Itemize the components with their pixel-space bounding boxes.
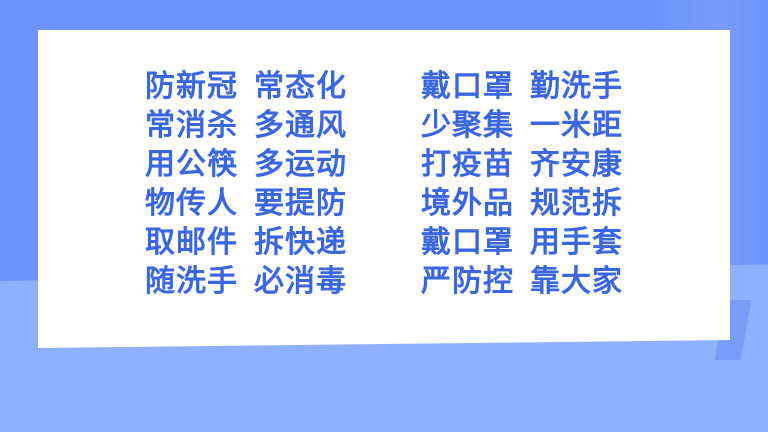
slogan-phrase: 戴口罩 [421, 223, 514, 262]
slogan-row: 物传人 要提防 [145, 184, 347, 223]
slogan-phrase: 严防控 [421, 262, 514, 301]
slogan-phrase: 取邮件 [145, 223, 238, 262]
slogan-phrase: 戴口罩 [421, 67, 514, 106]
slogan-phrase: 随洗手 [145, 262, 238, 301]
slogan-phrase: 拆快递 [254, 223, 347, 262]
slogan-column-left: 防新冠 常态化 常消杀 多通风 用公筷 多运动 物传人 要提防 [145, 67, 347, 301]
slogan-phrase: 用公筷 [145, 145, 238, 184]
slogan-row: 严防控 靠大家 [421, 262, 623, 301]
slogan-phrase: 必消毒 [254, 262, 347, 301]
slogan-phrase: 一米距 [530, 106, 623, 145]
slogan-row: 打疫苗 齐安康 [421, 145, 623, 184]
slogan-row: 用公筷 多运动 [145, 145, 347, 184]
slogan-phrase: 多运动 [254, 145, 347, 184]
slogan-phrase: 少聚集 [421, 106, 514, 145]
slogan-column-right: 戴口罩 勤洗手 少聚集 一米距 打疫苗 齐安康 境外品 规范拆 [421, 67, 623, 301]
poster-canvas: 防新冠 常态化 常消杀 多通风 用公筷 多运动 物传人 要提防 [0, 0, 768, 432]
slogan-row: 取邮件 拆快递 [145, 223, 347, 262]
slogan-card-inner: 防新冠 常态化 常消杀 多通风 用公筷 多运动 物传人 要提防 [38, 30, 730, 348]
slogan-phrase: 境外品 [421, 184, 514, 223]
slogan-row: 防新冠 常态化 [145, 67, 347, 106]
slogan-phrase: 常消杀 [145, 106, 238, 145]
slogan-row: 戴口罩 用手套 [421, 223, 623, 262]
slogan-phrase: 用手套 [530, 223, 623, 262]
slogan-phrase: 要提防 [254, 184, 347, 223]
slogan-row: 随洗手 必消毒 [145, 262, 347, 301]
slogan-row: 少聚集 一米距 [421, 106, 623, 145]
slogan-phrase: 常态化 [254, 67, 347, 106]
slogan-phrase: 多通风 [254, 106, 347, 145]
slogan-row: 戴口罩 勤洗手 [421, 67, 623, 106]
slogan-phrase: 靠大家 [530, 262, 623, 301]
slogan-phrase: 物传人 [145, 184, 238, 223]
slogan-phrase: 勤洗手 [530, 67, 623, 106]
slogan-phrase: 打疫苗 [421, 145, 514, 184]
slogan-row: 境外品 规范拆 [421, 184, 623, 223]
slogan-phrase: 齐安康 [530, 145, 623, 184]
slogan-card: 防新冠 常态化 常消杀 多通风 用公筷 多运动 物传人 要提防 [38, 30, 730, 348]
slogan-phrase: 规范拆 [530, 184, 623, 223]
slogan-row: 常消杀 多通风 [145, 106, 347, 145]
slogan-phrase: 防新冠 [145, 67, 238, 106]
slogan-grid: 防新冠 常态化 常消杀 多通风 用公筷 多运动 物传人 要提防 [145, 67, 623, 301]
